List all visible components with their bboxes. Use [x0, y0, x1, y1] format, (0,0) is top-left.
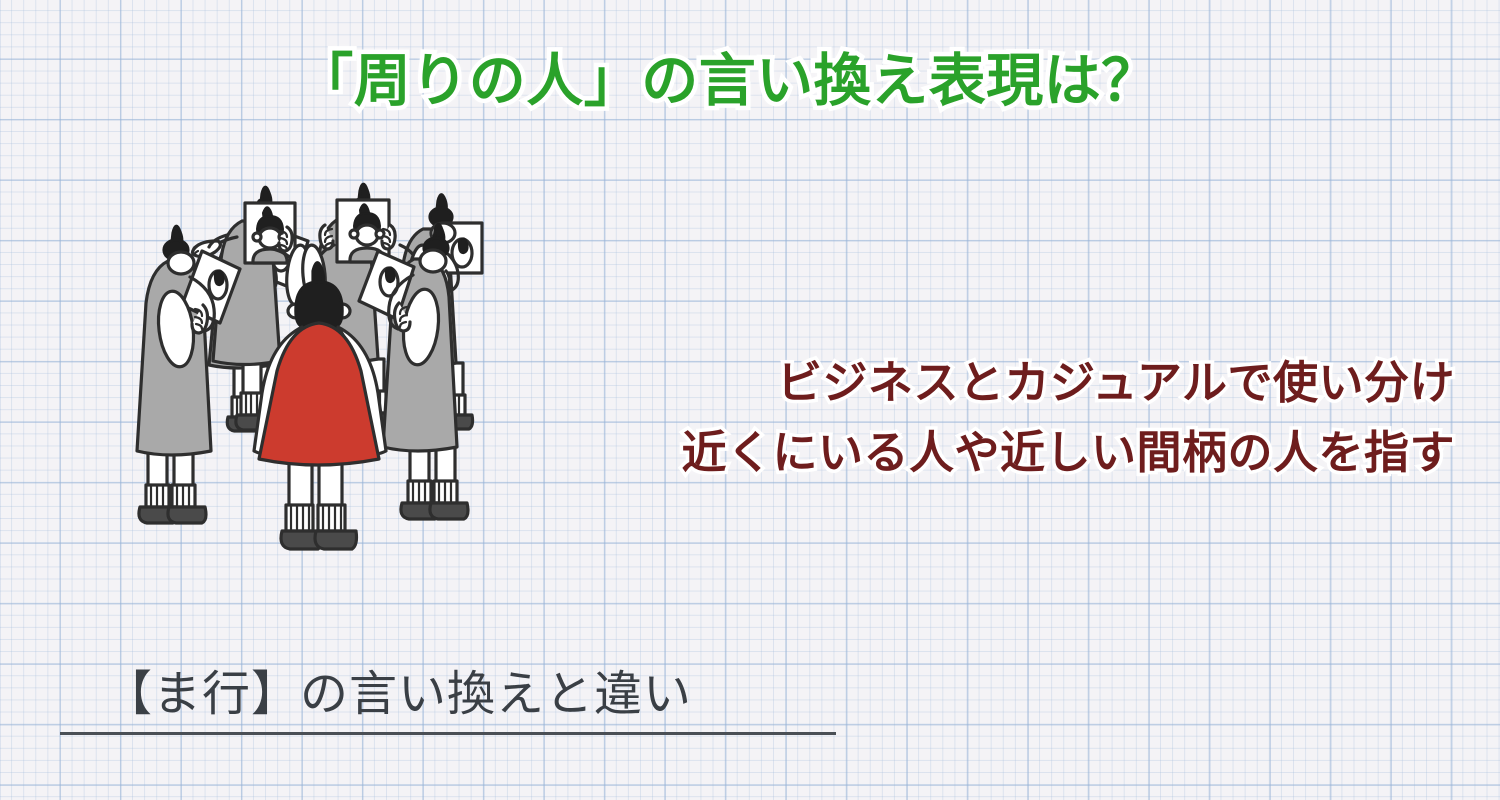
illustration-svg [110, 175, 530, 575]
figure-front-left [137, 226, 240, 523]
illustration-people-holding-face-sheets [110, 175, 530, 575]
caption-block: 【ま行】の言い換えと違い [60, 660, 840, 735]
poster-canvas: 「周りの人」の言い換え表現は？ [0, 0, 1500, 800]
caption-text: 【ま行】の言い換えと違い [60, 660, 840, 730]
subcopy-block: ビジネスとカジュアルで使い分け 近くにいる人や近しい間柄の人を指す [555, 348, 1455, 488]
subcopy-line-1: ビジネスとカジュアルで使い分け [555, 348, 1455, 418]
subcopy-line-2: 近くにいる人や近しい間柄の人を指す [555, 418, 1455, 488]
page-title: 「周りの人」の言い換え表現は？ [0, 52, 1455, 112]
caption-underline-rule [60, 732, 836, 735]
